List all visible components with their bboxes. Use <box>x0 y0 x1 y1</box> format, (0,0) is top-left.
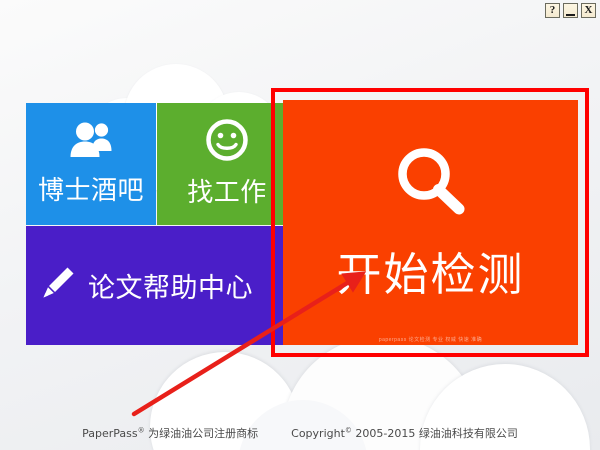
magnifier-icon <box>393 143 469 224</box>
people-icon <box>69 121 113 164</box>
tile-doctor-bar[interactable]: 博士酒吧 <box>26 103 156 225</box>
smiley-icon <box>206 119 248 166</box>
registered-mark-icon: ® <box>138 426 145 434</box>
tile-label-thesis-help-center: 论文帮助中心 <box>88 266 253 305</box>
tile-grid: 博士酒吧 找工作 论文帮助中心 <box>26 103 271 345</box>
footer-copyright-word: Copyright <box>291 427 345 440</box>
footer-trademark-text: 为绿油油公司注册商标 <box>148 427 258 440</box>
window-caption-buttons: ? X <box>545 3 596 18</box>
close-button[interactable]: X <box>581 3 596 18</box>
copyright-mark-icon: © <box>345 426 352 434</box>
footer-brand: PaperPass <box>82 427 138 440</box>
tile-label-doctor-bar: 博士酒吧 <box>38 170 144 207</box>
help-button[interactable]: ? <box>545 3 560 18</box>
tile-find-job[interactable]: 找工作 <box>157 103 297 225</box>
footer-copyright-company: 绿油油科技有限公司 <box>419 427 518 440</box>
footer: PaperPass® 为绿油油公司注册商标 Copyright© 2005-20… <box>0 425 600 441</box>
tile-start-detection[interactable]: 开始检测 paperpass 论文检测 专业 权威 快速 准确 <box>283 100 578 345</box>
footer-copyright-years: 2005-2015 <box>355 427 415 440</box>
tile-thesis-help-center[interactable]: 论文帮助中心 <box>26 226 297 345</box>
footer-copyright: Copyright© 2005-2015 绿油油科技有限公司 <box>291 427 518 440</box>
tile-strip-text: paperpass 论文检测 专业 权威 快速 准确 <box>283 336 578 343</box>
tile-label-start-detection: 开始检测 <box>336 238 524 303</box>
tile-start-detection-wrapper: 开始检测 paperpass 论文检测 专业 权威 快速 准确 <box>283 100 578 345</box>
application-window: ? X 博士酒吧 <box>0 0 600 450</box>
pencil-icon <box>40 265 76 306</box>
minimize-button[interactable] <box>563 3 578 18</box>
footer-trademark: PaperPass® 为绿油油公司注册商标 <box>82 427 258 440</box>
tile-label-find-job: 找工作 <box>187 172 267 209</box>
